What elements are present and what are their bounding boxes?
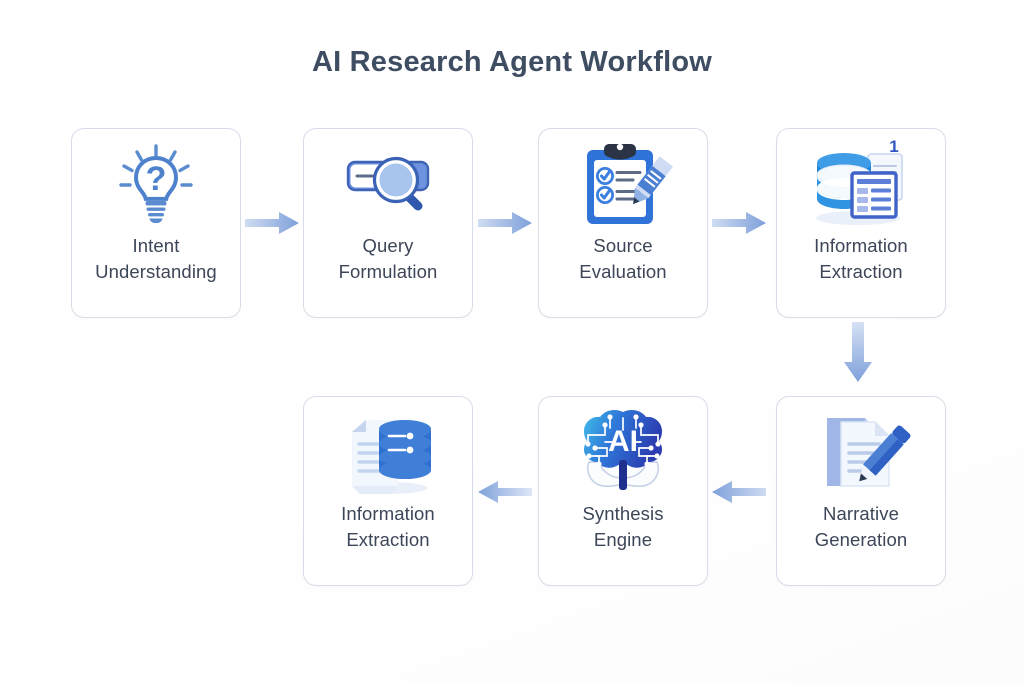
node-label-line2: Engine xyxy=(582,527,663,553)
arrow-information-to-narrative xyxy=(838,322,878,390)
node-label-line1: Information xyxy=(814,233,908,259)
node-label-line1: Intent xyxy=(95,233,217,259)
node-source-evaluation[interactable]: Source Evaluation xyxy=(538,128,708,318)
ai-brain-circuit-icon: AI xyxy=(539,397,707,501)
clipboard-checklist-pencil-icon xyxy=(539,129,707,233)
node-label-line2: Extraction xyxy=(814,259,908,285)
diagram-canvas: AI Research Agent Workflow xyxy=(0,0,1024,683)
node-information-extraction-top[interactable]: 1 xyxy=(776,128,946,318)
ai-label: AI xyxy=(608,425,638,458)
node-label-line1: Narrative xyxy=(815,501,908,527)
node-narrative-generation[interactable]: Narrative Generation xyxy=(776,396,946,586)
node-label-line1: Information xyxy=(341,501,435,527)
document-database-icon xyxy=(304,397,472,501)
node-label-line2: Understanding xyxy=(95,259,217,285)
badge-count: 1 xyxy=(889,137,898,156)
node-query-formulation[interactable]: Query Formulation xyxy=(303,128,473,318)
arrow-synthesis-to-extraction xyxy=(478,472,540,512)
database-document-icon: 1 xyxy=(777,129,945,233)
node-label: Synthesis Engine xyxy=(576,501,669,554)
node-information-extraction-bottom[interactable]: Information Extraction xyxy=(303,396,473,586)
page-title: AI Research Agent Workflow xyxy=(0,46,1024,79)
node-label-line1: Source xyxy=(579,233,666,259)
node-label: Narrative Generation xyxy=(809,501,914,554)
node-label-line2: Generation xyxy=(815,527,908,553)
node-label-line1: Query xyxy=(339,233,438,259)
arrow-intent-to-query xyxy=(245,203,307,243)
node-label-line1: Synthesis xyxy=(582,501,663,527)
search-bar-magnifier-icon xyxy=(304,129,472,233)
node-label: Information Extraction xyxy=(335,501,441,554)
node-label-line2: Formulation xyxy=(339,259,438,285)
arrow-query-to-source xyxy=(478,203,540,243)
lightbulb-question-icon: ? xyxy=(72,129,240,233)
node-label: Intent Understanding xyxy=(89,233,223,286)
node-synthesis-engine[interactable]: AI Synthesis Engine xyxy=(538,396,708,586)
arrow-source-to-information xyxy=(712,203,774,243)
node-label-line2: Evaluation xyxy=(579,259,666,285)
node-intent-understanding[interactable]: ? Intent Understanding xyxy=(71,128,241,318)
document-pencil-icon xyxy=(777,397,945,501)
node-label-line2: Extraction xyxy=(341,527,435,553)
node-label: Information Extraction xyxy=(808,233,914,286)
node-label: Query Formulation xyxy=(333,233,444,286)
arrow-narrative-to-synthesis xyxy=(712,472,774,512)
svg-text:?: ? xyxy=(146,160,167,198)
node-label: Source Evaluation xyxy=(573,233,672,286)
